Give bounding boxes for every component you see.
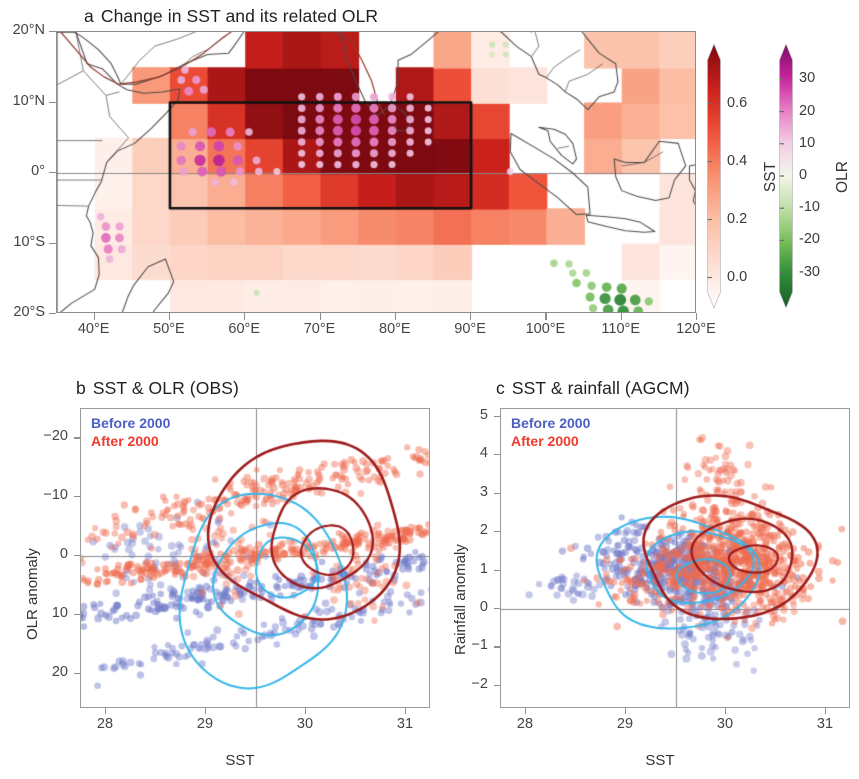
map-y-tick-label: 10°S bbox=[13, 234, 45, 250]
map-x-tick-mark bbox=[169, 313, 170, 320]
sst-change-map bbox=[56, 31, 696, 313]
olr-colorbar-tick-label: 10 bbox=[799, 135, 815, 151]
map-x-tick-label: 80°E bbox=[379, 321, 411, 337]
map-panel-title: aChange in SST and its related OLR bbox=[84, 6, 378, 27]
panel-c-x-axis-label: SST bbox=[645, 752, 674, 769]
olr-colorbar-tick-label: -30 bbox=[799, 264, 820, 280]
olr-colorbar: 3020100-10-20-30OLR bbox=[772, 40, 832, 324]
panel-c-y-tick-label: −2 bbox=[471, 676, 488, 692]
map-y-tick-mark bbox=[49, 102, 56, 103]
map-x-tick-label: 40°E bbox=[78, 321, 110, 337]
map-panel-letter: a bbox=[84, 6, 94, 26]
panel-c-title-text: SST & rainfall (AGCM) bbox=[512, 378, 690, 398]
panel-c-legend-after-2000: After 2000 bbox=[511, 433, 579, 449]
panel-c-x-tick-label: 29 bbox=[617, 716, 633, 732]
sst-colorbar-tick-label: 0.0 bbox=[727, 269, 747, 285]
panel-c-y-tick-label: 2 bbox=[480, 522, 488, 538]
sst-colorbar-tick-label: 0.6 bbox=[727, 95, 747, 111]
panel-c-x-tick-mark bbox=[725, 708, 726, 714]
panel-b-y-tick-mark bbox=[74, 437, 80, 438]
map-y-tick-label: 20°N bbox=[13, 22, 45, 38]
panel-c-y-tick-mark bbox=[494, 646, 500, 647]
map-y-tick-label: 0° bbox=[31, 163, 45, 179]
sst-heatmap-canvas bbox=[57, 32, 696, 313]
panel-c-y-tick-label: 3 bbox=[480, 484, 488, 500]
panel-c-x-tick-label: 31 bbox=[817, 716, 833, 732]
panel-b-y-tick-label: −20 bbox=[43, 428, 68, 444]
panel-c-y-tick-mark bbox=[494, 531, 500, 532]
panel-c-plot-area: Before 2000 After 2000 bbox=[500, 408, 850, 708]
panel-c-letter: c bbox=[496, 378, 505, 398]
panel-b-y-axis-label: OLR anomaly bbox=[24, 548, 41, 640]
panel-c-y-tick-mark bbox=[494, 608, 500, 609]
panel-c-x-tick-mark bbox=[825, 708, 826, 714]
olr-colorbar-tick-label: -20 bbox=[799, 231, 820, 247]
panel-b-y-tick-mark bbox=[74, 673, 80, 674]
sst-colorbar-gradient bbox=[708, 44, 721, 308]
panel-c-y-tick-mark bbox=[494, 493, 500, 494]
panel-c-y-tick-mark bbox=[494, 685, 500, 686]
map-panel-title-text: Change in SST and its related OLR bbox=[101, 6, 378, 26]
map-x-tick-label: 60°E bbox=[228, 321, 260, 337]
panel-b-scatter-canvas bbox=[81, 409, 430, 708]
map-x-tick-mark bbox=[320, 313, 321, 320]
map-x-tick-mark bbox=[545, 313, 546, 320]
panel-b-x-tick-label: 29 bbox=[197, 716, 213, 732]
panel-b-y-tick-mark bbox=[74, 555, 80, 556]
panel-c-y-tick-label: 0 bbox=[480, 599, 488, 615]
panel-c-y-axis-label: Rainfall anomaly bbox=[452, 544, 469, 655]
panel-b-x-tick-mark bbox=[405, 708, 406, 714]
map-x-tick-label: 90°E bbox=[454, 321, 486, 337]
olr-colorbar-tick-label: -10 bbox=[799, 199, 820, 215]
panel-c-x-tick-mark bbox=[525, 708, 526, 714]
panel-b-title-text: SST & OLR (OBS) bbox=[93, 378, 239, 398]
olr-colorbar-tick-label: 20 bbox=[799, 103, 815, 119]
map-x-tick-label: 100°E bbox=[526, 321, 566, 337]
map-x-tick-label: 110°E bbox=[601, 321, 640, 337]
panel-c-x-tick-mark bbox=[625, 708, 626, 714]
map-y-tick-mark bbox=[49, 313, 56, 314]
panel-b-y-tick-label: −10 bbox=[43, 487, 68, 503]
map-y-tick-label: 10°N bbox=[13, 93, 45, 109]
panel-b-x-tick-mark bbox=[305, 708, 306, 714]
panel-c-x-tick-label: 30 bbox=[717, 716, 733, 732]
map-x-tick-label: 70°E bbox=[304, 321, 336, 337]
map-x-tick-mark bbox=[621, 313, 622, 320]
panel-c-y-tick-mark bbox=[494, 416, 500, 417]
map-x-tick-mark bbox=[696, 313, 697, 320]
panel-b-x-axis-label: SST bbox=[225, 752, 254, 769]
sst-colorbar-tick-label: 0.4 bbox=[727, 153, 747, 169]
map-y-tick-mark bbox=[49, 31, 56, 32]
map-x-tick-label: 50°E bbox=[153, 321, 185, 337]
panel-c-x-tick-label: 28 bbox=[517, 716, 533, 732]
panel-c-y-tick-mark bbox=[494, 454, 500, 455]
panel-c-scatter-canvas bbox=[501, 409, 850, 708]
panel-b-x-tick-label: 30 bbox=[297, 716, 313, 732]
map-x-tick-mark bbox=[244, 313, 245, 320]
map-x-tick-mark bbox=[94, 313, 95, 320]
panel-c-y-tick-label: 5 bbox=[480, 407, 488, 423]
map-y-tick-label: 20°S bbox=[13, 304, 45, 320]
olr-colorbar-tick-label: 30 bbox=[799, 70, 815, 86]
map-y-tick-mark bbox=[49, 172, 56, 173]
sst-colorbar: 0.00.20.40.6SST bbox=[700, 40, 760, 324]
panel-b-x-tick-label: 31 bbox=[397, 716, 413, 732]
panel-c-y-tick-label: 4 bbox=[480, 445, 488, 461]
panel-b-y-tick-label: 0 bbox=[60, 546, 68, 562]
panel-b-y-tick-mark bbox=[74, 496, 80, 497]
map-y-tick-mark bbox=[49, 243, 56, 244]
panel-c-y-tick-label: −1 bbox=[471, 637, 488, 653]
panel-b-plot-area: Before 2000 After 2000 bbox=[80, 408, 430, 708]
panel-b-letter: b bbox=[76, 378, 86, 398]
panel-b-x-tick-mark bbox=[205, 708, 206, 714]
panel-b-y-tick-mark bbox=[74, 614, 80, 615]
map-x-tick-mark bbox=[470, 313, 471, 320]
panel-c-title: cSST & rainfall (AGCM) bbox=[496, 378, 690, 399]
panel-b-x-tick-label: 28 bbox=[97, 716, 113, 732]
panel-b-title: bSST & OLR (OBS) bbox=[76, 378, 239, 399]
olr-colorbar-title: OLR bbox=[834, 161, 852, 193]
panel-b-legend-after-2000: After 2000 bbox=[91, 433, 159, 449]
panel-c-legend-before-2000: Before 2000 bbox=[511, 415, 590, 431]
sst-colorbar-tick-label: 0.2 bbox=[727, 211, 747, 227]
panel-b-x-tick-mark bbox=[105, 708, 106, 714]
panel-c-y-tick-label: 1 bbox=[480, 561, 488, 577]
panel-b-y-tick-label: 10 bbox=[52, 605, 68, 621]
olr-colorbar-tick-label: 0 bbox=[799, 167, 807, 183]
panel-c-y-tick-mark bbox=[494, 570, 500, 571]
map-x-tick-mark bbox=[395, 313, 396, 320]
panel-b-y-tick-label: 20 bbox=[52, 664, 68, 680]
panel-b-legend-before-2000: Before 2000 bbox=[91, 415, 170, 431]
